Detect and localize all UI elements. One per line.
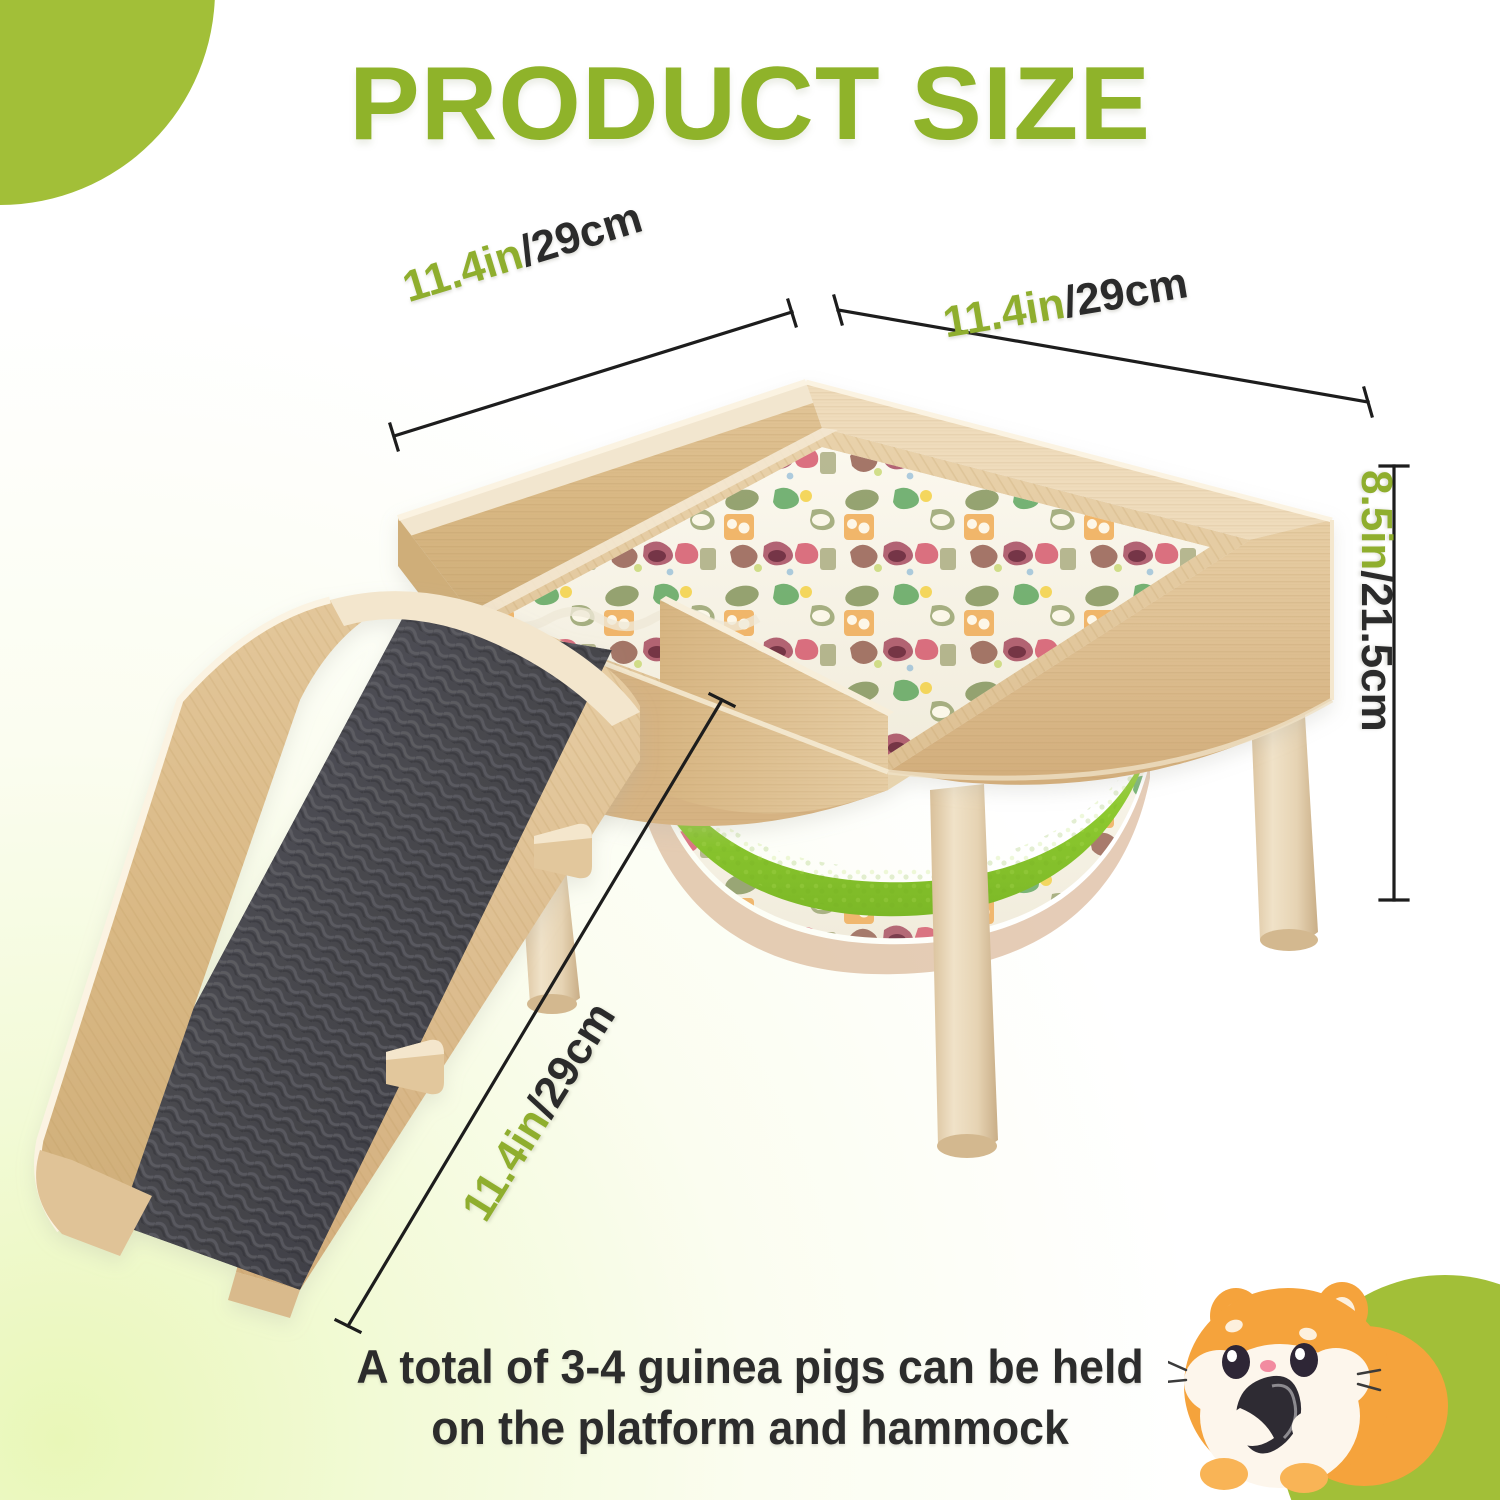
capacity-caption-line-2: on the platform and hammock [38,1397,1463,1458]
dimension-label-height: 8.5in/21.5cm [1354,470,1398,732]
dimension-height-inches: 8.5in [1352,470,1401,570]
page-title: PRODUCT SIZE [0,52,1500,156]
dimension-height-separator: / [1352,570,1401,582]
product-size-infographic: PRODUCT SIZE 11.4in/29cm 11.4in/29cm 8.5… [0,0,1500,1500]
dimension-height-metric: 21.5cm [1352,583,1401,732]
capacity-caption: A total of 3-4 guinea pigs can be held o… [38,1336,1463,1458]
capacity-caption-line-1: A total of 3-4 guinea pigs can be held [38,1336,1463,1397]
